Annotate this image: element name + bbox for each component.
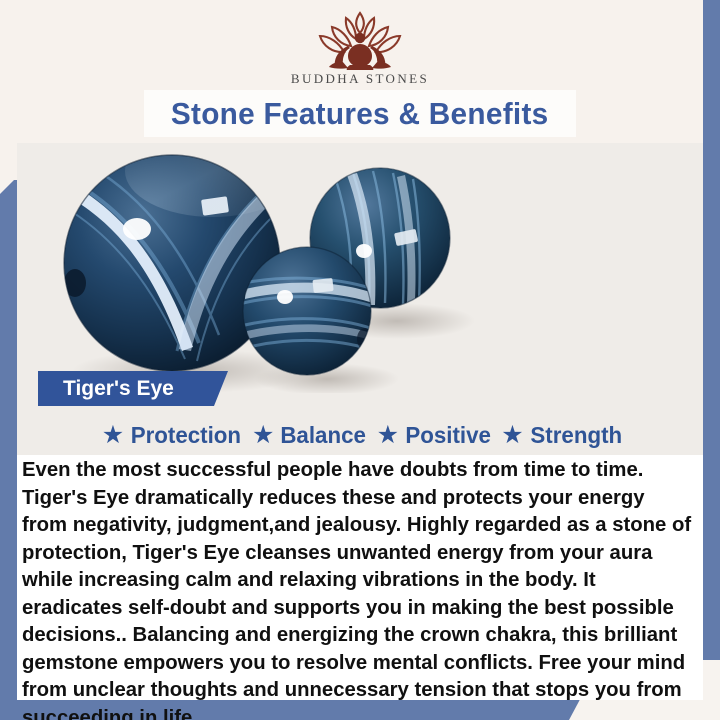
- stone-features-card: BUDDHA STONES Stone Features & Benefits: [0, 0, 720, 720]
- benefit-item: ★ Protection: [97, 422, 243, 449]
- star-icon: ★: [501, 423, 523, 448]
- benefit-item: ★ Positive: [372, 422, 493, 449]
- page-title: Stone Features & Benefits: [171, 96, 549, 132]
- lotus-meditation-icon: [294, 8, 426, 70]
- gemstone-spheres-image: [17, 143, 703, 393]
- gemstone-photo: [17, 143, 703, 393]
- brand-name: BUDDHA STONES: [291, 71, 429, 87]
- benefit-label: Strength: [530, 422, 622, 449]
- star-icon: ★: [377, 423, 399, 448]
- benefit-item: ★ Balance: [247, 422, 368, 449]
- frame-band-left: [0, 180, 17, 720]
- benefit-item: ★ Strength: [496, 422, 623, 449]
- star-icon: ★: [252, 423, 274, 448]
- benefits-list: ★ Protection ★ Balance ★ Positive ★ Stre…: [17, 418, 703, 452]
- benefit-label: Balance: [281, 422, 367, 449]
- stone-name-banner: Tiger's Eye: [38, 371, 228, 406]
- page-title-plate: Stone Features & Benefits: [144, 90, 576, 137]
- brand-logo: BUDDHA STONES: [0, 8, 720, 87]
- star-icon: ★: [102, 423, 124, 448]
- benefit-label: Protection: [131, 422, 241, 449]
- description-text: Even the most successful people have dou…: [22, 456, 691, 720]
- stone-name-label: Tiger's Eye: [63, 377, 174, 401]
- frame-band-right: [703, 0, 720, 660]
- benefit-label: Positive: [405, 422, 491, 449]
